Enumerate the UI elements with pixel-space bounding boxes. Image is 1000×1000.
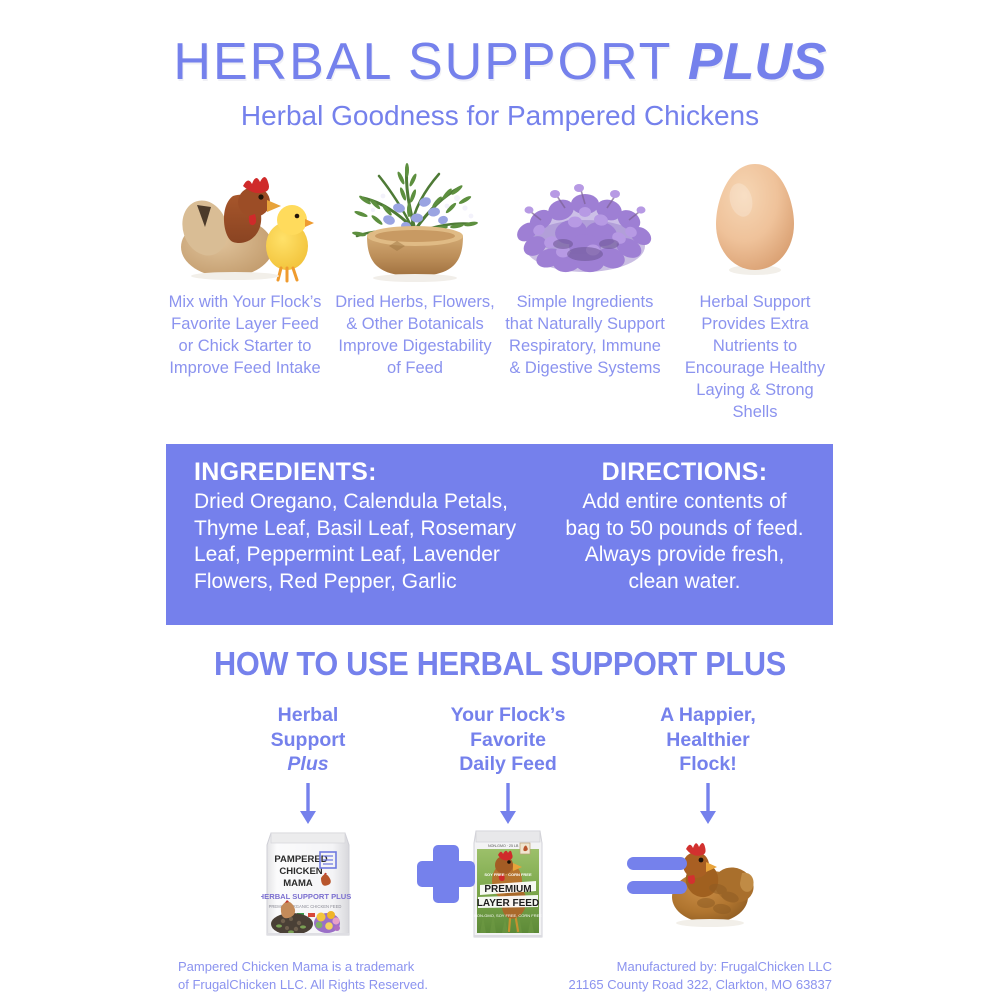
feature-text: Herbal Support Provides Extra Nutrients … bbox=[675, 291, 835, 423]
poster-root: HERBAL SUPPORT PLUS Herbal Goodness for … bbox=[0, 0, 1000, 1000]
footer-manufacturer-line2: 21165 County Road 322, Clarkton, MO 6383… bbox=[568, 976, 832, 994]
howto-steps: Herbal Support Plus PAMPERED bbox=[165, 703, 835, 943]
bag-product-name: HERBAL SUPPORT PLUS bbox=[261, 892, 351, 901]
footer-manufacturer: Manufactured by: FrugalChicken LLC 21165… bbox=[568, 958, 832, 994]
howto-step: A Happier, Healthier Flock! bbox=[618, 703, 798, 933]
herbal-support-plus-bag-photo: PAMPERED CHICKEN MAMA HERBAL SUPPORT PLU… bbox=[261, 829, 355, 939]
hen-and-chick-photo bbox=[165, 150, 325, 285]
howto-step-label: Herbal Support Plus bbox=[218, 703, 398, 777]
bag2-product-line1: PREMIUM bbox=[484, 884, 531, 895]
howto-step-label-line2: Support bbox=[271, 729, 346, 751]
herb-bowl-photo bbox=[335, 150, 495, 285]
bag2-subhead: SOY FREE · CORN FREE bbox=[484, 872, 532, 877]
howto-step-label-line3: Daily Feed bbox=[459, 753, 557, 775]
howto-step-label: A Happier, Healthier Flock! bbox=[618, 703, 798, 777]
footer-manufacturer-line1: Manufactured by: FrugalChicken LLC bbox=[568, 958, 832, 976]
feature-text: Dried Herbs, Flowers, & Other Botanicals… bbox=[335, 291, 495, 379]
brown-egg-photo bbox=[675, 150, 835, 285]
equals-symbol bbox=[627, 855, 687, 897]
page-title-main: HERBAL SUPPORT bbox=[173, 33, 688, 91]
howto-step-label-line1: Herbal bbox=[278, 704, 339, 726]
down-arrow-icon bbox=[297, 783, 319, 825]
howto-step-label-line2: Healthier bbox=[666, 729, 749, 751]
feature-text: Mix with Your Flock’s Favorite Layer Fee… bbox=[165, 291, 325, 379]
lavender-bunch-photo bbox=[505, 150, 665, 285]
info-band: INGREDIENTS: Dried Oregano, Calendula Pe… bbox=[166, 444, 833, 625]
plus-symbol bbox=[415, 843, 477, 905]
ingredients-section: INGREDIENTS: Dried Oregano, Calendula Pe… bbox=[166, 444, 554, 625]
howto-step-label-line1: A Happier, bbox=[660, 704, 756, 726]
bag2-tagline: NON-GMO, SOY FREE, CORN FREE bbox=[474, 913, 542, 918]
page-title: HERBAL SUPPORT PLUS bbox=[0, 32, 1000, 92]
howto-title: HOW TO USE HERBAL SUPPORT PLUS bbox=[35, 645, 965, 683]
bag2-product-line2: LAYER FEED bbox=[477, 898, 539, 909]
feature-item: Simple Ingredients that Naturally Suppor… bbox=[505, 150, 665, 379]
howto-step-label-line3: Plus bbox=[287, 753, 328, 775]
howto-step-label: Your Flock’s Favorite Daily Feed bbox=[418, 703, 598, 777]
howto-step-label-line3: Flock! bbox=[679, 753, 736, 775]
feature-item: Herbal Support Provides Extra Nutrients … bbox=[675, 150, 835, 423]
directions-heading: DIRECTIONS: bbox=[562, 458, 807, 487]
bag-brand-line3: MAMA bbox=[283, 878, 313, 889]
ingredients-text: Dried Oregano, Calendula Petals, Thyme L… bbox=[194, 489, 554, 595]
directions-section: DIRECTIONS: Add entire contents of bag t… bbox=[554, 444, 833, 625]
bag-tagline: PREMIUM ORGANIC CHICKEN FEED bbox=[269, 904, 342, 909]
howto-step-label-line1: Your Flock’s bbox=[451, 704, 566, 726]
directions-text: Add entire contents of bag to 50 pounds … bbox=[562, 489, 807, 595]
bag2-weight: NON-GMO · 25 LB bbox=[488, 844, 519, 848]
footer-trademark-line1: Pampered Chicken Mama is a trademark bbox=[178, 958, 428, 976]
feature-item: Dried Herbs, Flowers, & Other Botanicals… bbox=[335, 150, 495, 379]
feature-list: Mix with Your Flock’s Favorite Layer Fee… bbox=[165, 150, 835, 423]
howto-step: Herbal Support Plus PAMPERED bbox=[218, 703, 398, 939]
down-arrow-icon bbox=[697, 783, 719, 825]
feature-item: Mix with Your Flock’s Favorite Layer Fee… bbox=[165, 150, 325, 379]
down-arrow-icon bbox=[497, 783, 519, 825]
premium-layer-feed-bag-photo: NON-GMO · 25 LB PREMIUM bbox=[468, 829, 548, 941]
bag-brand-line2: CHICKEN bbox=[279, 866, 322, 877]
ingredients-heading: INGREDIENTS: bbox=[194, 458, 554, 487]
howto-step-label-line2: Favorite bbox=[470, 729, 546, 751]
footer-trademark: Pampered Chicken Mama is a trademark of … bbox=[178, 958, 428, 994]
page-title-emphasis: PLUS bbox=[688, 33, 827, 91]
footer-trademark-line2: of FrugalChicken LLC. All Rights Reserve… bbox=[178, 976, 428, 994]
feature-text: Simple Ingredients that Naturally Suppor… bbox=[505, 291, 665, 379]
page-subtitle: Herbal Goodness for Pampered Chickens bbox=[0, 100, 1000, 132]
